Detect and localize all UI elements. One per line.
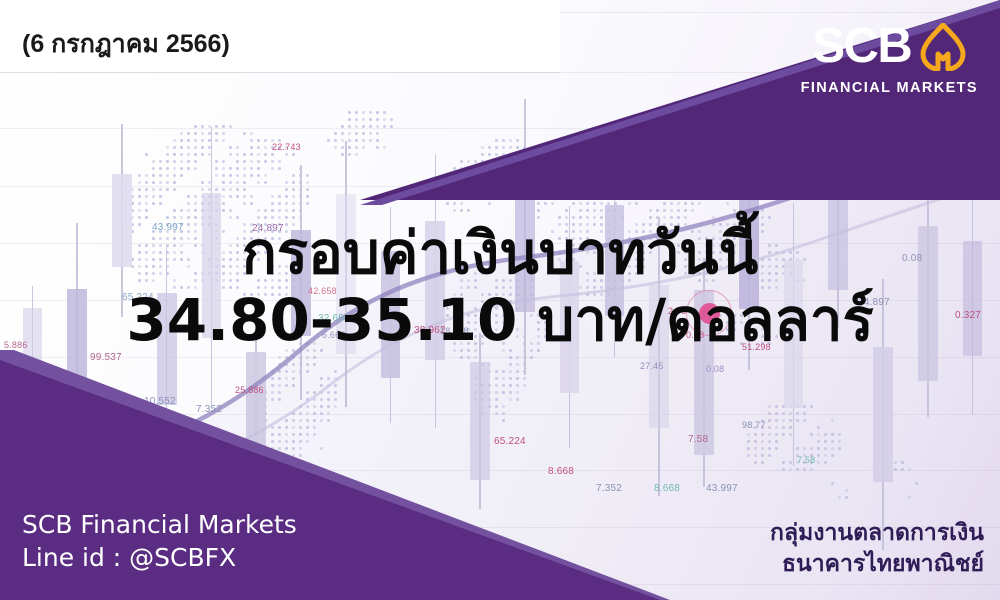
- headline-line-1: กรอบค่าเงินบาทวันนี้: [0, 224, 1000, 283]
- footer-right-line-2: ธนาคารไทยพาณิชย์: [770, 549, 984, 580]
- logo-row: SCB: [812, 22, 966, 71]
- header-band-divider: [0, 72, 560, 73]
- headline: กรอบค่าเงินบาทวันนี้ 34.80-35.10 บาท/ดอล…: [0, 224, 1000, 350]
- footer-right: กลุ่มงานตลาดการเงิน ธนาคารไทยพาณิชย์: [770, 518, 984, 580]
- footer-left-line-2: Line id : @SCBFX: [22, 541, 297, 574]
- footer-left: SCB Financial Markets Line id : @SCBFX: [22, 508, 297, 574]
- headline-line-2: 34.80-35.10 บาท/ดอลลาร์: [0, 291, 1000, 350]
- scb-logo: SCB FINANCIAL MARKETS: [801, 22, 978, 96]
- footer-left-line-1: SCB Financial Markets: [22, 508, 297, 541]
- infographic-canvas: 22.74343.99724.89765.22432.65838.96242.6…: [0, 0, 1000, 600]
- date-label: (6 กรกฎาคม 2566): [22, 24, 230, 64]
- scb-bodhi-leaf-icon: [920, 23, 966, 71]
- logo-tagline: FINANCIAL MARKETS: [801, 80, 978, 96]
- scb-wordmark: SCB: [812, 22, 911, 71]
- footer-right-line-1: กลุ่มงานตลาดการเงิน: [770, 518, 984, 549]
